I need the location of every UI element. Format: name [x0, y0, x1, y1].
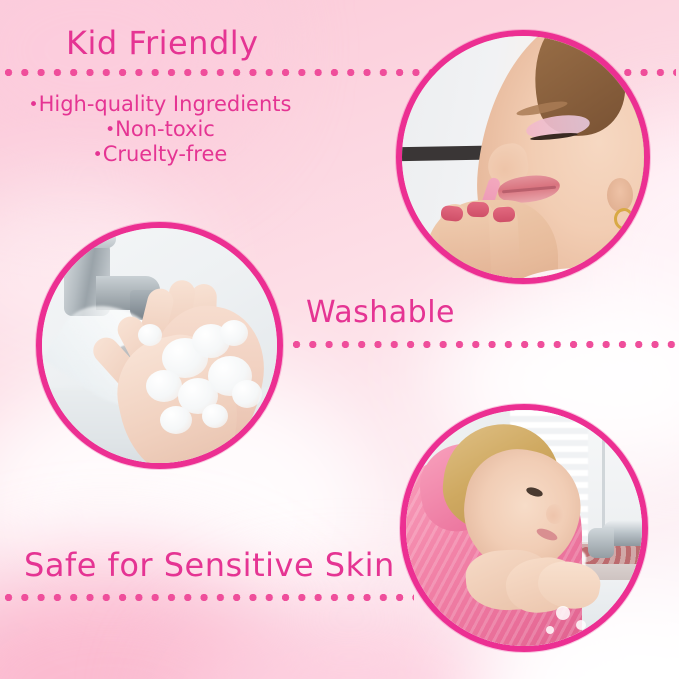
photo-toddler-content: [406, 410, 642, 646]
product-feature-poster: Kid Friendly •High-quality Ingredients •…: [0, 0, 679, 679]
kid-friendly-heading: Kid Friendly: [66, 24, 259, 62]
water-splash: [556, 606, 570, 620]
safe-for-sensitive-skin-heading: Safe for Sensitive Skin: [24, 546, 395, 584]
faucet-spout: [588, 528, 614, 558]
water-splash: [566, 636, 578, 646]
soap-suds: [232, 380, 262, 408]
girl-ear: [607, 178, 633, 212]
list-item: •Cruelty-free: [0, 142, 320, 167]
photo-toddler-washing-hands: [400, 404, 648, 652]
girl-nail-polish: [467, 202, 490, 218]
bullet-icon: •: [29, 95, 39, 115]
bullet-icon: •: [105, 120, 115, 140]
washable-heading: Washable: [306, 295, 455, 330]
girl-nail-polish: [493, 206, 516, 222]
kid-friendly-feature-list: •High-quality Ingredients •Non-toxic •Cr…: [0, 92, 320, 167]
list-item: •High-quality Ingredients: [0, 92, 320, 117]
photo-lipgloss-content: [402, 36, 644, 278]
water-splash: [546, 626, 554, 634]
toddler-nose: [546, 504, 564, 524]
list-item-label: Non-toxic: [115, 117, 215, 141]
dotted-divider-middle: [292, 340, 679, 349]
soap-suds: [146, 370, 182, 402]
photo-soapy-hands-content: [42, 228, 277, 463]
water-splash: [576, 620, 586, 630]
photo-lipgloss-girl: [396, 30, 650, 284]
list-item-label: High-quality Ingredients: [39, 92, 292, 116]
girl-nail-polish: [440, 205, 463, 222]
soap-suds: [202, 404, 228, 428]
soap-suds: [220, 320, 248, 346]
photo-soapy-hands: [36, 222, 283, 469]
soap-suds: [138, 324, 162, 346]
faucet-cap: [72, 230, 116, 248]
list-item: •Non-toxic: [0, 117, 320, 142]
soap-suds: [160, 406, 192, 434]
girl-earring: [614, 208, 634, 230]
list-item-label: Cruelty-free: [103, 142, 228, 166]
dotted-divider-bottom: [4, 593, 414, 602]
bullet-icon: •: [93, 145, 103, 165]
